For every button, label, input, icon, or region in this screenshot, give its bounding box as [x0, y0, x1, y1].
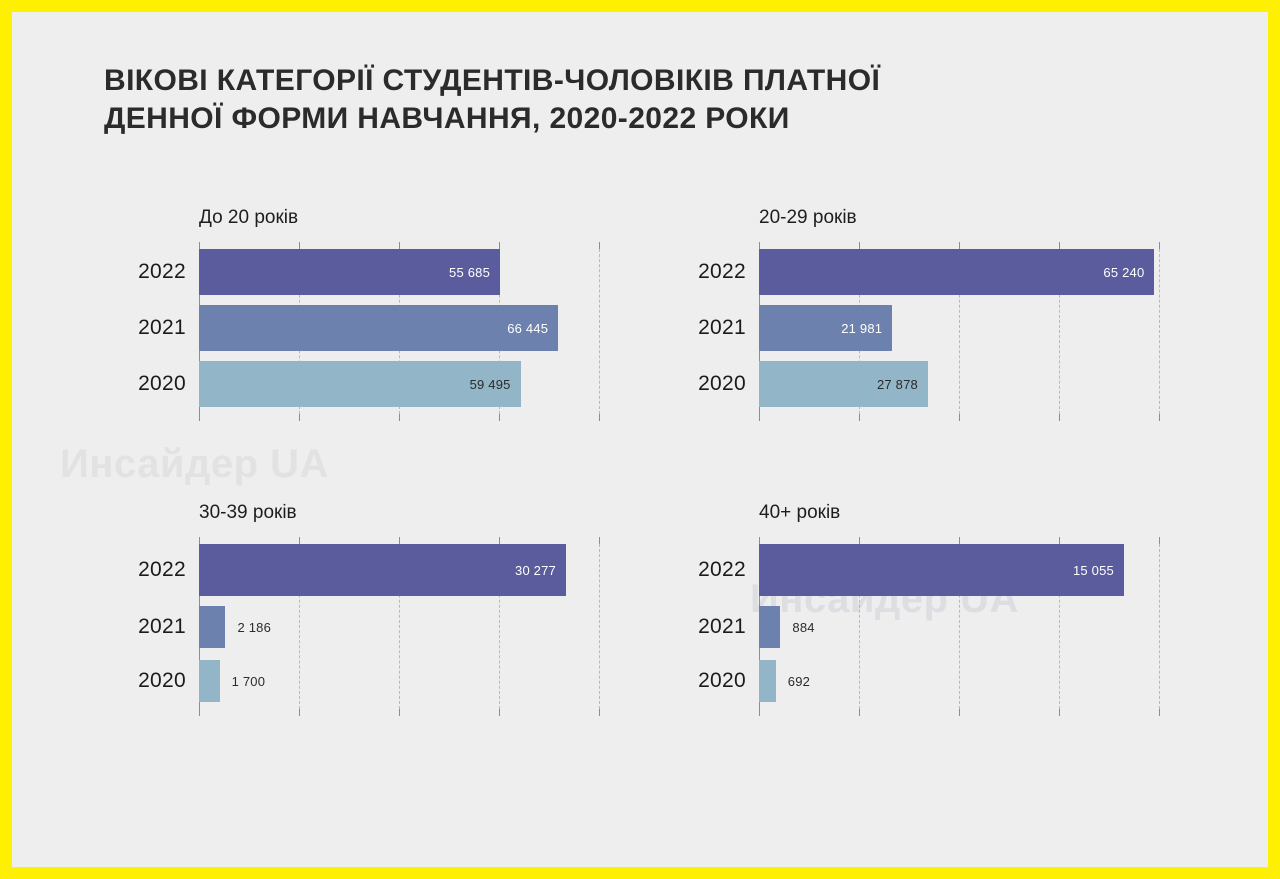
chart-title-do-20: До 20 років — [199, 207, 298, 229]
chart-tick — [1059, 537, 1060, 544]
chart-title-30-39: 30-39 років — [199, 502, 297, 524]
chart-tick — [1059, 709, 1060, 716]
chart-category-label-2020: 2020 — [104, 372, 186, 396]
chart-tick — [399, 709, 400, 716]
chart-row: 202121 981 — [759, 305, 1159, 351]
chart-tick — [1059, 414, 1060, 421]
chart-tick — [599, 537, 600, 544]
chart-value-label: 30 277 — [515, 563, 566, 578]
poster-canvas: ВІКОВІ КАТЕГОРІЇ СТУДЕНТІВ-ЧОЛОВІКІВ ПЛА… — [12, 12, 1268, 867]
chart-value-label: 27 878 — [877, 377, 928, 392]
chart-bar-2021: 2 186 — [199, 606, 225, 648]
chart-tick — [599, 709, 600, 716]
chart-value-label: 2 186 — [237, 620, 271, 635]
chart-tick — [299, 709, 300, 716]
chart-category-label-2021: 2021 — [104, 316, 186, 340]
chart-title-40-plus: 40+ років — [759, 502, 840, 524]
chart-category-label-2020: 2020 — [664, 669, 746, 693]
chart-plot-do-20: 202255 685202166 445202059 495 — [199, 249, 599, 414]
chart-tick — [199, 537, 200, 544]
chart-category-label-2022: 2022 — [104, 558, 186, 582]
chart-bar-2020: 59 495 — [199, 361, 521, 407]
chart-tick — [859, 242, 860, 249]
chart-plot-20-29: 202265 240202121 981202027 878 — [759, 249, 1159, 414]
chart-tick — [759, 537, 760, 544]
chart-row: 202255 685 — [199, 249, 599, 295]
chart-category-label-2022: 2022 — [664, 558, 746, 582]
chart-tick — [759, 709, 760, 716]
chart-tick — [399, 414, 400, 421]
chart-category-label-2020: 2020 — [104, 669, 186, 693]
chart-row: 20201 700 — [199, 660, 599, 702]
chart-tick — [859, 709, 860, 716]
chart-row: 202215 055 — [759, 544, 1159, 596]
chart-tick — [859, 537, 860, 544]
chart-row: 2021884 — [759, 606, 1159, 648]
chart-title-20-29: 20-29 років — [759, 207, 857, 229]
chart-tick — [399, 242, 400, 249]
chart-category-label-2021: 2021 — [664, 615, 746, 639]
chart-category-label-2021: 2021 — [664, 316, 746, 340]
chart-row: 202230 277 — [199, 544, 599, 596]
chart-tick — [199, 414, 200, 421]
chart-tick — [499, 537, 500, 544]
chart-tick — [599, 414, 600, 421]
chart-value-label: 59 495 — [470, 377, 521, 392]
chart-bar-2020: 27 878 — [759, 361, 928, 407]
chart-tick — [199, 242, 200, 249]
chart-plot-30-39: 202230 27720212 18620201 700 — [199, 544, 599, 709]
chart-tick — [499, 709, 500, 716]
chart-tick — [1159, 414, 1160, 421]
chart-tick — [959, 537, 960, 544]
page-title-line1: ВІКОВІ КАТЕГОРІЇ СТУДЕНТІВ-ЧОЛОВІКІВ ПЛА… — [104, 62, 1104, 100]
chart-value-label: 15 055 — [1073, 563, 1124, 578]
chart-gridline — [1159, 249, 1160, 414]
chart-tick — [199, 709, 200, 716]
chart-tick — [959, 709, 960, 716]
chart-bar-2020: 1 700 — [199, 660, 220, 702]
page-title-line2: ДЕННОЇ ФОРМИ НАВЧАННЯ, 2020-2022 РОКИ — [104, 100, 1104, 138]
chart-category-label-2020: 2020 — [664, 372, 746, 396]
chart-bar-2020: 692 — [759, 660, 776, 702]
chart-row: 202027 878 — [759, 361, 1159, 407]
chart-category-label-2021: 2021 — [104, 615, 186, 639]
footer: INSTITUTE FOR WAR & PEACE REPORTING IWPR… — [12, 767, 1268, 867]
chart-tick — [759, 414, 760, 421]
chart-tick — [759, 242, 760, 249]
chart-value-label: 66 445 — [507, 321, 558, 336]
chart-plot-40-plus: 202215 05520218842020692 — [759, 544, 1159, 709]
chart-tick — [859, 414, 860, 421]
chart-tick — [499, 414, 500, 421]
chart-value-label: 21 981 — [841, 321, 892, 336]
watermark-primary: Инсайдер UA — [60, 442, 329, 487]
chart-bar-2022: 15 055 — [759, 544, 1124, 596]
chart-row: 20212 186 — [199, 606, 599, 648]
chart-tick — [599, 242, 600, 249]
chart-value-label: 884 — [792, 620, 814, 635]
chart-tick — [959, 414, 960, 421]
chart-gridline — [599, 249, 600, 414]
chart-tick — [1159, 709, 1160, 716]
chart-tick — [1059, 242, 1060, 249]
chart-value-label: 692 — [788, 674, 810, 689]
chart-bar-2022: 30 277 — [199, 544, 566, 596]
chart-value-label: 1 700 — [232, 674, 266, 689]
chart-tick — [299, 242, 300, 249]
chart-category-label-2022: 2022 — [664, 260, 746, 284]
chart-tick — [299, 414, 300, 421]
chart-bar-2021: 884 — [759, 606, 780, 648]
chart-tick — [399, 537, 400, 544]
chart-row: 202059 495 — [199, 361, 599, 407]
chart-gridline — [599, 544, 600, 709]
chart-tick — [959, 242, 960, 249]
chart-value-label: 55 685 — [449, 265, 500, 280]
chart-bar-2022: 55 685 — [199, 249, 500, 295]
chart-category-label-2022: 2022 — [104, 260, 186, 284]
chart-tick — [1159, 537, 1160, 544]
chart-tick — [1159, 242, 1160, 249]
chart-row: 2020692 — [759, 660, 1159, 702]
chart-gridline — [1159, 544, 1160, 709]
chart-bar-2021: 66 445 — [199, 305, 558, 351]
chart-tick — [499, 242, 500, 249]
page-title: ВІКОВІ КАТЕГОРІЇ СТУДЕНТІВ-ЧОЛОВІКІВ ПЛА… — [104, 62, 1104, 138]
chart-bar-2021: 21 981 — [759, 305, 892, 351]
chart-row: 202265 240 — [759, 249, 1159, 295]
chart-row: 202166 445 — [199, 305, 599, 351]
chart-tick — [299, 537, 300, 544]
chart-bar-2022: 65 240 — [759, 249, 1154, 295]
chart-value-label: 65 240 — [1103, 265, 1154, 280]
